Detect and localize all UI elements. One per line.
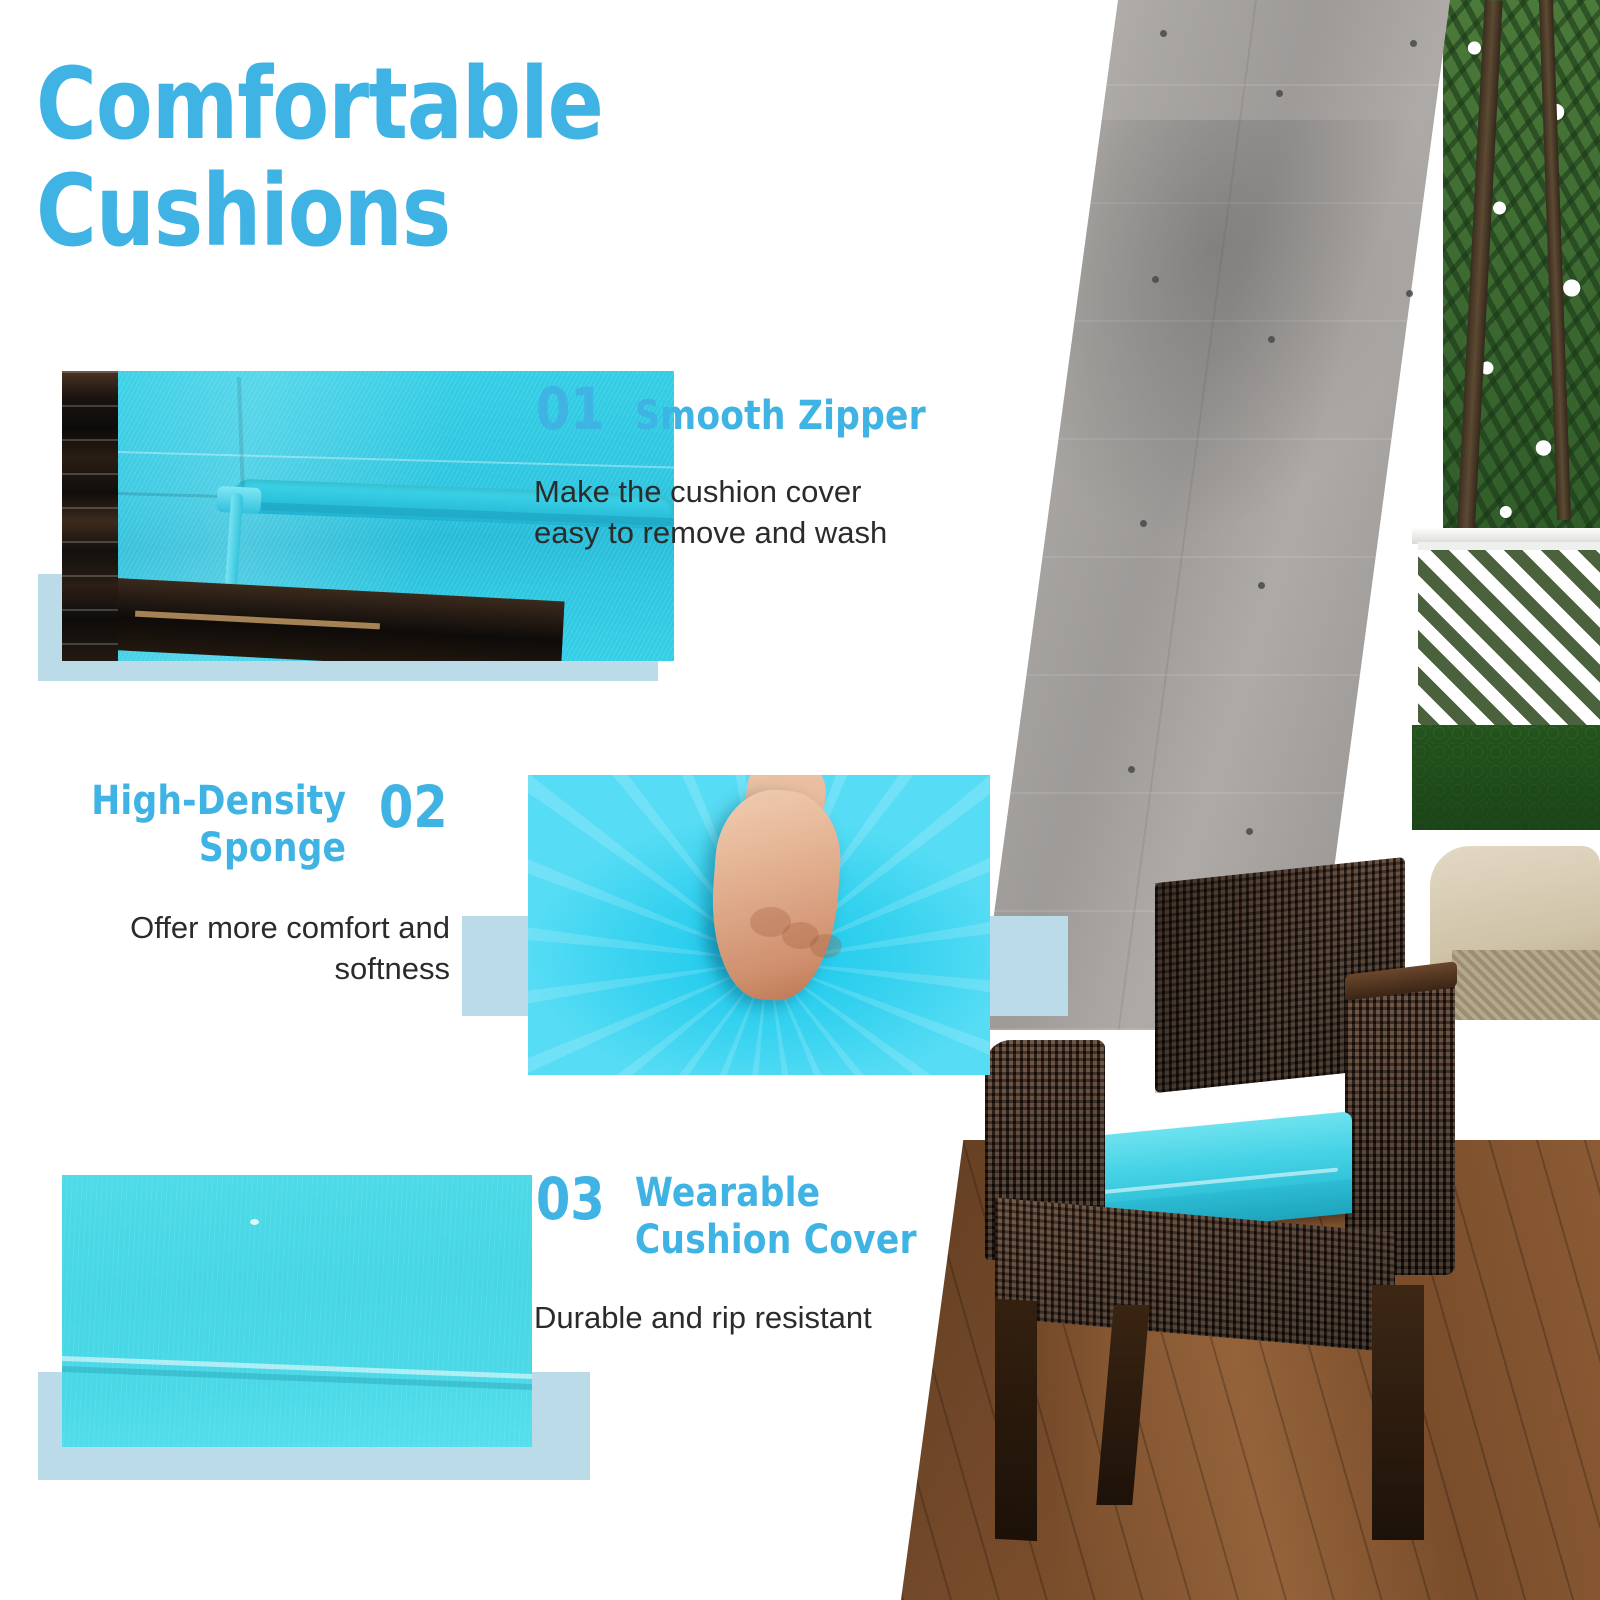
- wall-bolt: [1128, 766, 1135, 773]
- wall-bolt: [1140, 520, 1147, 527]
- feature-3-image: [62, 1175, 532, 1447]
- feature-2-description: Offer more comfort and softness: [80, 908, 450, 990]
- wall-bolt: [1246, 828, 1253, 835]
- wall-bolt: [1276, 90, 1283, 97]
- feature-1-description: Make the cushion cover easy to remove an…: [534, 472, 964, 554]
- feature-2-number: 02: [379, 778, 448, 836]
- feature-2-title: High-Density Sponge: [91, 778, 346, 872]
- infographic-root: Comfortable Cushions 01 Smooth Zipper Ma…: [0, 0, 1600, 1600]
- feature-1-number: 01: [536, 380, 605, 438]
- feature-3-text-block: 03 Wearable Cushion Cover Durable and ri…: [534, 1170, 954, 1339]
- feature-2-image: [528, 775, 990, 1075]
- chair-leg: [1372, 1285, 1424, 1540]
- wall-bolt: [1406, 290, 1413, 297]
- feature-1-text-block: 01 Smooth Zipper Make the cushion cover …: [534, 380, 964, 554]
- feature-3-number: 03: [536, 1170, 605, 1228]
- feature-2-left-connector: [462, 916, 532, 1016]
- lattice-fence: [1418, 542, 1600, 740]
- wall-shadow: [1031, 120, 1448, 550]
- feature-1-title: Smooth Zipper: [635, 393, 926, 440]
- feature-3-title: Wearable Cushion Cover: [634, 1170, 916, 1264]
- wall-bolt: [1258, 582, 1265, 589]
- hedge: [1412, 725, 1600, 830]
- wall-bolt: [1160, 30, 1167, 37]
- wall-bolt: [1268, 336, 1275, 343]
- feature-3-description: Durable and rip resistant: [534, 1298, 954, 1339]
- feature-2-text-block: High-Density Sponge 02 Offer more comfor…: [80, 778, 450, 990]
- wall-bolt: [1410, 40, 1417, 47]
- chair-leg: [995, 1299, 1037, 1541]
- wall-bolt: [1152, 276, 1159, 283]
- page-title: Comfortable Cushions: [36, 52, 687, 266]
